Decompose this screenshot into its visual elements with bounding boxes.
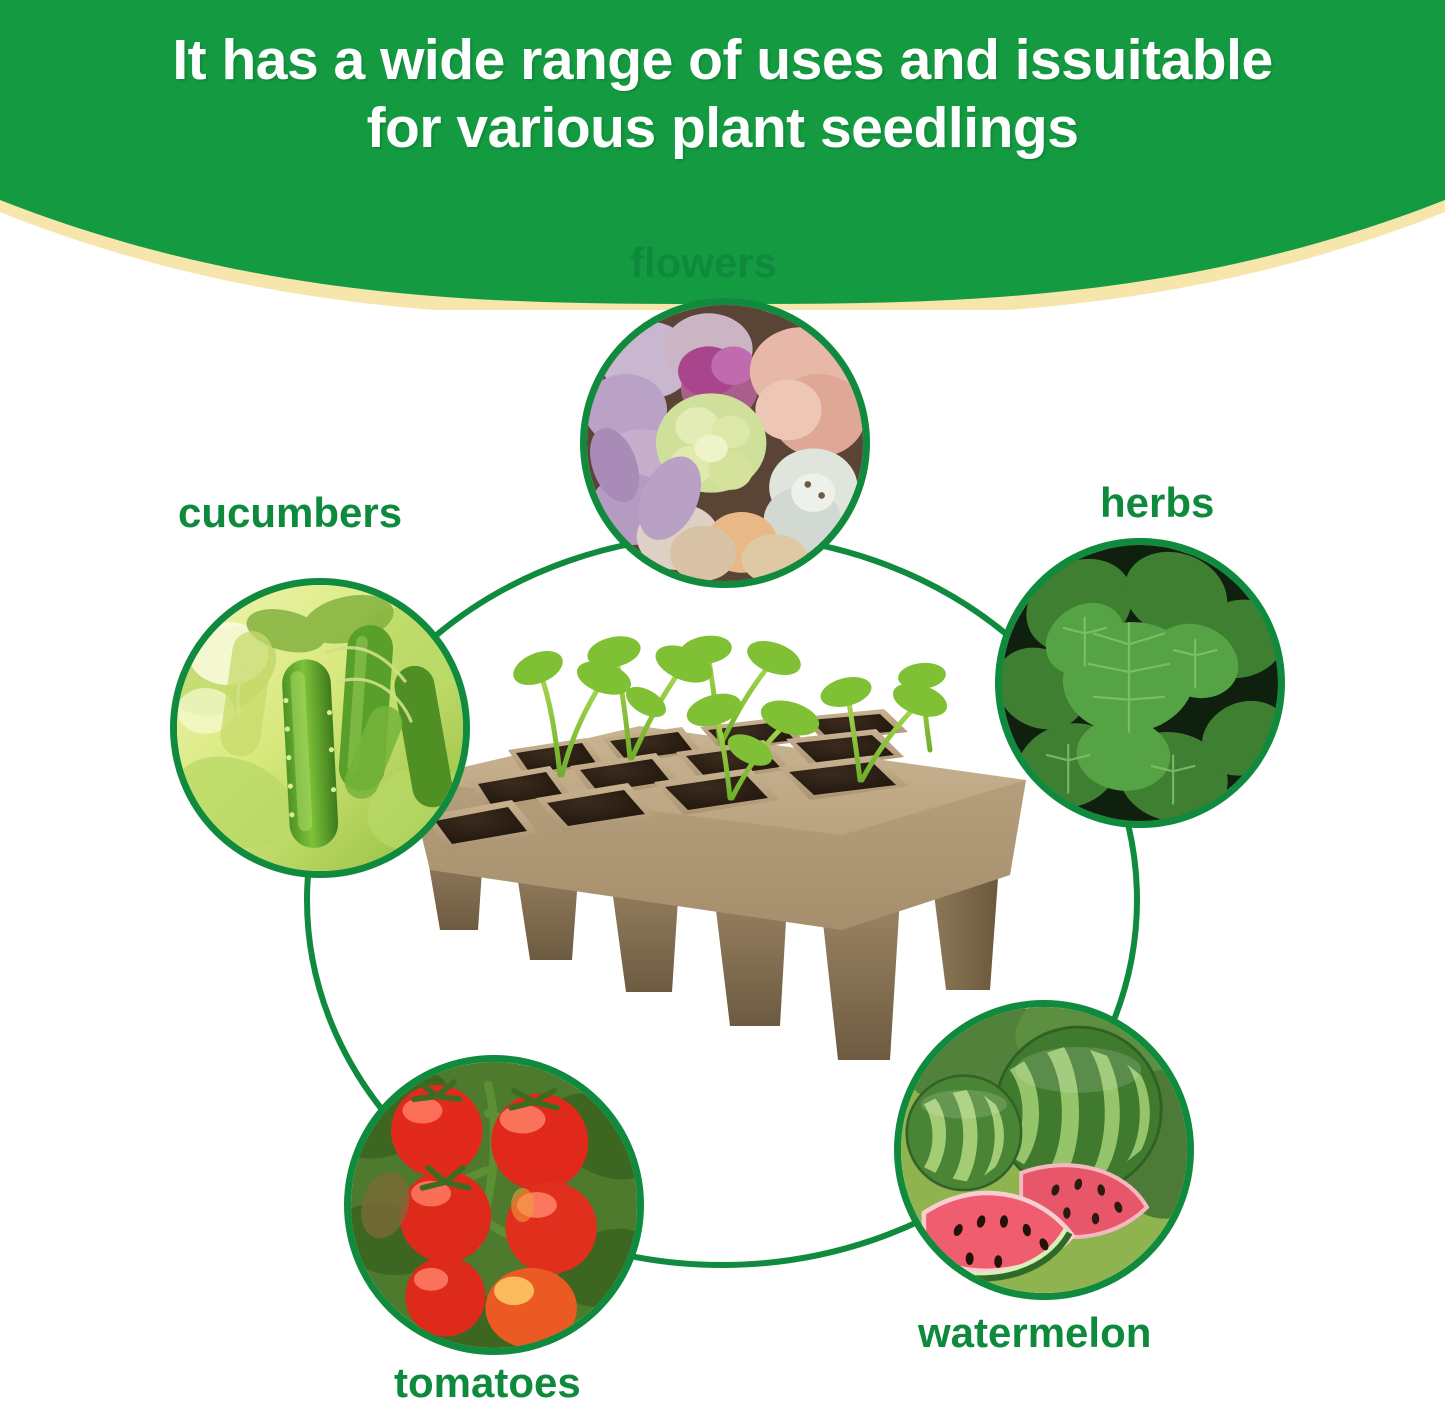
herbs-image	[995, 538, 1285, 828]
node-flowers[interactable]: flowers	[555, 240, 875, 600]
mint-herbs-photo	[1002, 545, 1278, 821]
watermelon-photo	[901, 1007, 1187, 1293]
node-watermelon[interactable]: watermelon	[880, 1000, 1220, 1390]
tomatoes-photo	[351, 1062, 637, 1348]
node-cucumbers[interactable]: cucumbers	[160, 490, 480, 890]
node-label-flowers: flowers	[630, 240, 777, 286]
node-tomatoes[interactable]: tomatoes	[338, 1055, 678, 1400]
infographic-stage: It has a wide range of uses and issuitab…	[0, 0, 1445, 1400]
node-label-watermelon: watermelon	[918, 1310, 1151, 1356]
node-label-tomatoes: tomatoes	[394, 1360, 581, 1406]
watermelon-image	[894, 1000, 1194, 1300]
whole-watermelon-small	[907, 1076, 1021, 1190]
node-label-herbs: herbs	[1100, 480, 1214, 526]
node-herbs[interactable]: herbs	[985, 480, 1305, 850]
succulent-flowers-photo	[587, 305, 863, 581]
cucumbers-photo	[177, 585, 463, 871]
cucumbers-image	[170, 578, 470, 878]
flowers-image	[580, 298, 870, 588]
node-label-cucumbers: cucumbers	[178, 490, 402, 536]
tomatoes-image	[344, 1055, 644, 1355]
